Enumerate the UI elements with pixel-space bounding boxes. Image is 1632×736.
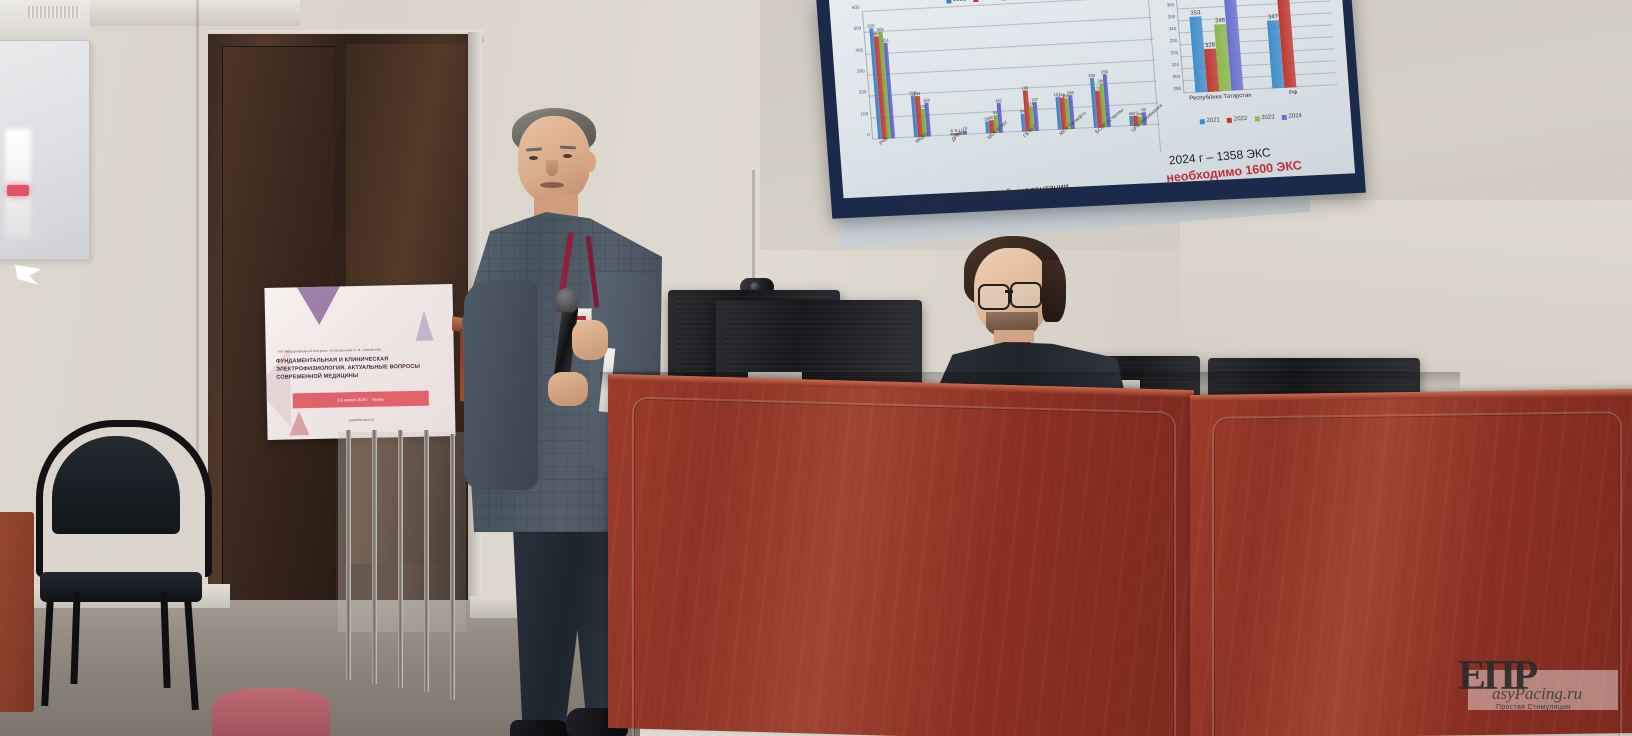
legend-swatch [973,0,978,2]
legend-item: 2022 [1227,116,1248,123]
bar-value-label: 451 [882,37,889,42]
legend-item: 2024 [1281,113,1302,120]
webcam-arm [752,170,755,282]
banner-date-badge: 3-5 апреля 2025 г. · Казань [293,391,429,409]
bar-value-label: 137 [1031,97,1038,102]
side-table [0,512,34,712]
chair-seat [40,572,202,602]
y-axis-tick: 600 [852,5,860,10]
y-axis-tick: 320 [1170,50,1178,55]
vent-grille [28,6,80,18]
bar-value-label: 141 [995,98,1002,103]
chair-leg [160,592,170,688]
speaker-ear [584,152,596,172]
chair-leg [184,598,199,710]
glasses-lens-left [978,284,1010,310]
bar-value-label: 346 [1215,18,1225,25]
legend-item: 2023 [1254,114,1275,121]
bar-group: 45474460 [1119,0,1147,126]
bar-value-label: 326 [1205,42,1215,49]
legend-label: 2021 [953,0,967,3]
wall-unit [0,0,90,45]
y-axis-tick: 310 [1171,62,1179,67]
slide-content: 2021202220232024 01002003004005006005204… [829,0,1355,231]
speaker-arm-left [464,280,538,490]
legend-swatch [1254,116,1259,121]
y-axis-tick: 500 [853,26,861,31]
chair-leg [70,592,80,684]
bar-value-label: 503 [876,27,883,32]
podium-rod [346,430,351,680]
chart-plot-area: 0100200300400500600520485503451РКБ196194… [862,0,1160,140]
floor-object [212,688,330,736]
seated-hair-side [1042,260,1066,322]
y-axis-tick: 290 [1173,86,1181,91]
banner-decor-shape [292,284,345,325]
speaker-hand-upper [572,320,608,360]
y-axis-tick: 400 [855,47,863,52]
podium-rod [424,430,429,692]
x-axis-label: Республика Татарстан [1184,91,1258,104]
y-axis-tick: 200 [859,90,867,95]
speaker-nose [546,160,558,176]
bar-value-label: 194 [913,91,920,96]
banner-title: ФУНДАМЕНТАЛЬНАЯ И КЛИНИЧЕСКАЯ ЭЛЕКТРОФИЗ… [276,354,448,382]
y-axis-tick: 300 [857,68,865,73]
y-axis-tick: 0 [867,132,870,137]
conference-room-photo: 2021202220232024 01002003004005006005204… [0,0,1632,736]
indicator-light [7,185,29,196]
bar-value-label: 8 [950,129,953,134]
bar-group: 353326346382 [1186,0,1244,93]
x-axis-label: РФ [1257,88,1331,101]
desk-panel-moulding [632,396,1176,736]
legend-swatch [1227,117,1232,122]
speaker-eye [529,156,538,160]
podium-rod [450,434,455,700]
podium-banner: VIII Международный конгресс, посвященный… [264,284,455,440]
y-axis-tick: 340 [1168,26,1176,31]
legend-swatch [1199,119,1204,124]
legend-item: 2021 [946,0,967,4]
chart-region-comparison: 2903003103203303403503603703803903533263… [1150,0,1341,142]
bar-value-label: 235 [1088,73,1095,78]
legend-item: 2022 [973,0,994,2]
speaker-hand-lower [548,372,588,406]
speaker-shoe [510,720,572,736]
glasses-bridge [1005,290,1013,293]
glare [5,129,31,239]
legend-swatch [1281,114,1286,119]
y-axis-tick: 360 [1167,2,1175,7]
legend-label: 2022 [980,0,994,2]
chair-leg [41,598,54,706]
legend-label: 2023 [1261,114,1275,121]
podium-rod [398,430,403,688]
whiteboard-panel [0,40,90,260]
banner-decor-shape [415,310,434,340]
banner-superline: VIII Международный конгресс, посвященный… [278,346,444,353]
bar-value-label: 190 [1021,86,1028,91]
desk-front-left [608,374,1194,736]
chart-hospitals: 2021202220232024 01002003004005006005204… [845,0,1162,166]
chair[interactable] [30,420,210,710]
bar-value-label: 60 [1141,107,1146,112]
bar-value-label: 347 [1268,14,1278,21]
watermark-site: asyPacing.ru [1492,684,1582,704]
bar-value-label: 158 [1067,90,1074,95]
monitor-texture [724,306,914,380]
legend-label: 2022 [1234,116,1248,123]
bar-value-label: 19 [962,126,967,131]
bar-value-label: 158 [923,98,930,103]
y-axis-tick: 300 [1172,74,1180,79]
speaker-mouth [540,182,564,188]
legend-label: 2021 [1206,117,1220,124]
watermark-tagline: Простая Стимуляция [1496,704,1570,711]
bar-value-label: 520 [867,23,874,28]
speaker-eye [563,154,572,158]
watermark: ЕПР asyPacing.ru Простая Стимуляция [1452,648,1624,724]
bar-value-label: 353 [1190,11,1200,18]
projection-bottom-note: Нет данных по первичной имплантации [903,181,1070,208]
y-axis-tick: 330 [1169,38,1177,43]
y-axis-tick: 350 [1167,14,1175,19]
legend-item: 2021 [1199,117,1220,124]
y-axis-tick: 100 [860,111,868,116]
glasses-lens-right [1010,282,1042,308]
bar-value-label: 250 [1101,69,1108,74]
podium-rod [372,430,377,684]
legend-label: 2024 [1288,113,1302,120]
legend-item: 2023 [1001,0,1022,1]
legend-swatch [946,0,951,3]
chart-plot-area: 2903003103203303403503603703803903533263… [1174,0,1337,93]
wall-seam [196,0,199,460]
